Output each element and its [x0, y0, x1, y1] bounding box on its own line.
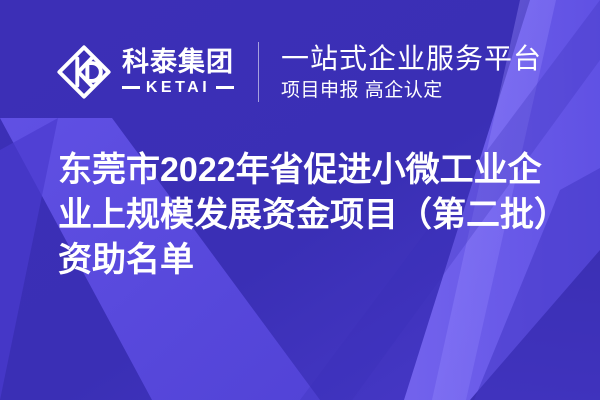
banner-tagline: 一站式企业服务平台 项目申报 高企认定 — [281, 42, 542, 103]
banner-title: 东莞市2022年省促进小微工业企业上规模发展资金项目（第二批）资助名单 — [58, 148, 563, 283]
brand-wordmark: 科泰集团 KETAI — [122, 48, 234, 95]
wordmark-rule-left — [122, 86, 140, 89]
brand-name-en: KETAI — [140, 80, 216, 96]
brand-logo[interactable]: 科泰集团 KETAI — [56, 36, 234, 108]
promotional-banner: 科泰集团 KETAI 一站式企业服务平台 项目申报 高企认定 东莞市2022年省… — [0, 0, 600, 400]
brand-name-en-row: KETAI — [122, 80, 234, 96]
tagline-secondary: 项目申报 高企认定 — [281, 79, 542, 103]
bg-wedge-left-edge — [0, 118, 58, 400]
brand-name-cn: 科泰集团 — [122, 48, 234, 76]
banner-header: 科泰集团 KETAI 一站式企业服务平台 项目申报 高企认定 — [56, 36, 542, 108]
wordmark-rule-right — [216, 86, 234, 89]
header-divider — [258, 42, 259, 102]
ketai-diamond-monogram-icon — [56, 44, 112, 100]
tagline-primary: 一站式企业服务平台 — [281, 42, 542, 75]
